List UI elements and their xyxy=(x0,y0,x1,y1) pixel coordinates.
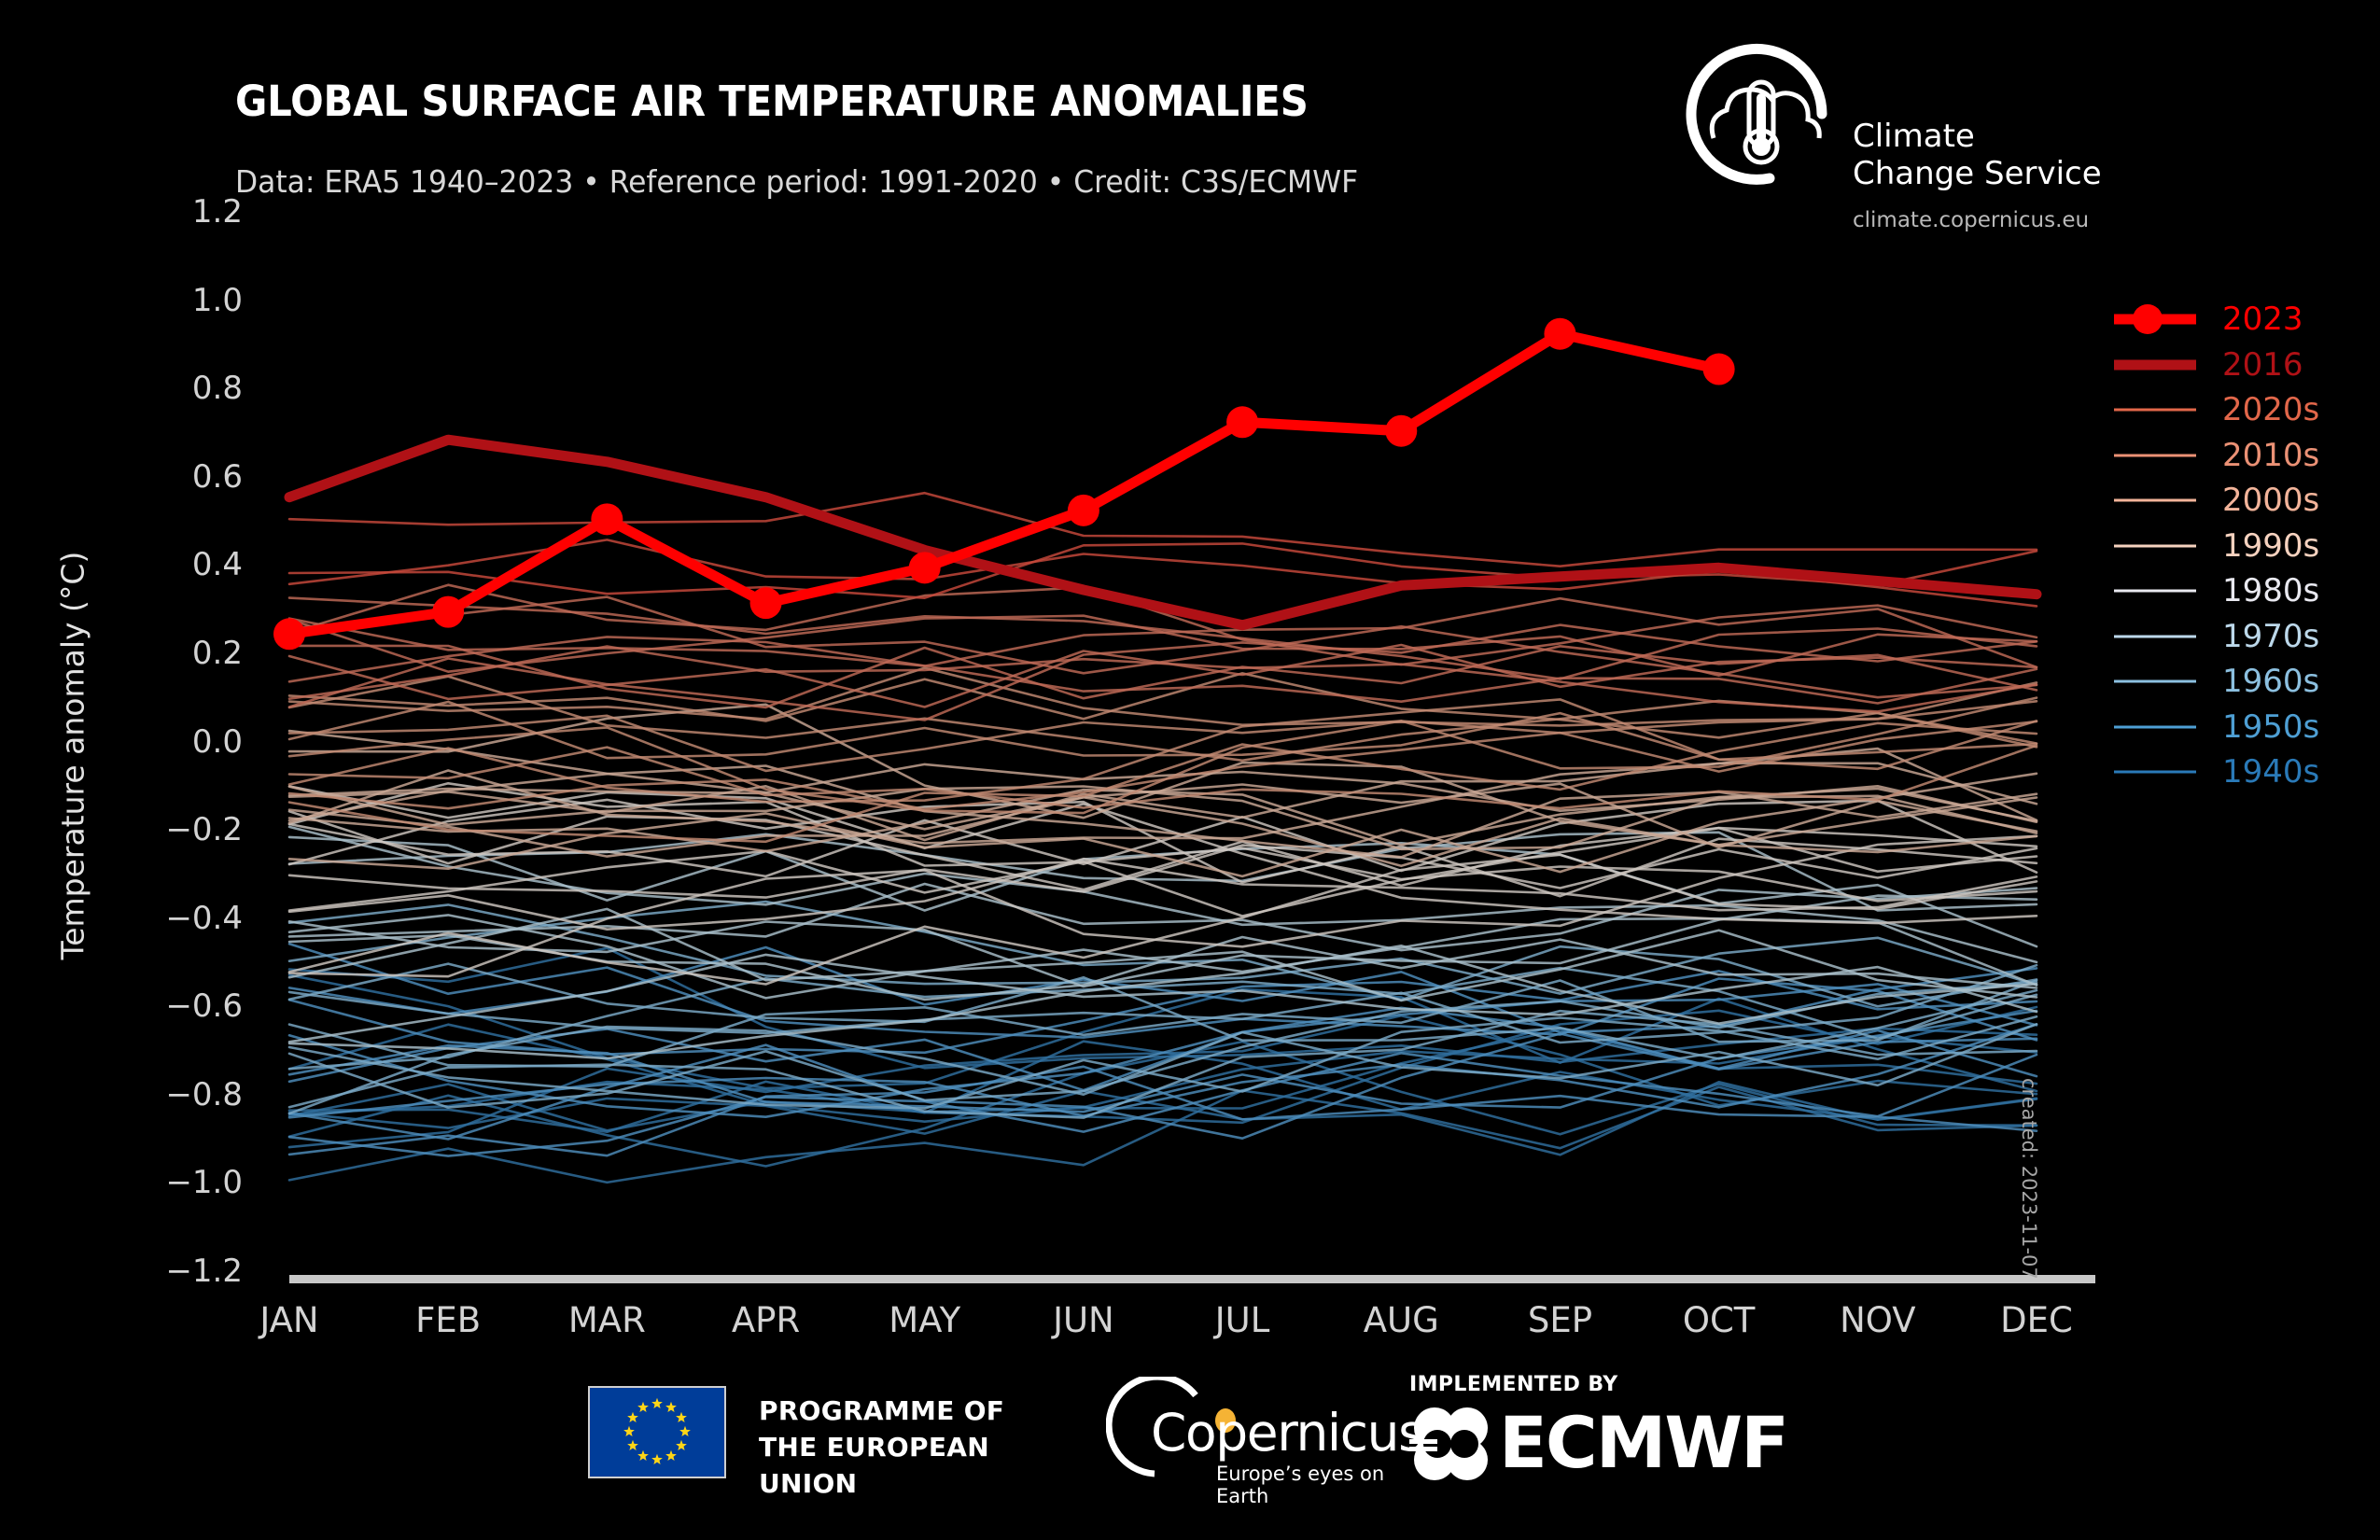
legend-line-swatch xyxy=(2114,680,2196,683)
legend-item-1940s[interactable]: 1940s xyxy=(2114,749,2375,795)
data-point-marker xyxy=(1068,495,1099,526)
eu-star-icon xyxy=(627,1440,638,1450)
c3s-wordmark-line1: Climate xyxy=(1853,118,2102,155)
legend-line-swatch xyxy=(2114,590,2196,593)
y-axis-tick-label: −1.2 xyxy=(93,1253,243,1290)
legend-item-label: 2020s xyxy=(2222,391,2319,428)
legend-item-1970s[interactable]: 1970s xyxy=(2114,614,2375,660)
legend-item-1950s[interactable]: 1950s xyxy=(2114,705,2375,750)
c3s-wordmark: Climate Change Service xyxy=(1853,118,2102,192)
legend-line-swatch xyxy=(2114,409,2196,412)
legend-item-label: 1940s xyxy=(2222,753,2319,791)
chart-header: GLOBAL SURFACE AIR TEMPERATURE ANOMALIES… xyxy=(0,0,2380,215)
eu-star-icon xyxy=(665,1402,677,1412)
legend-item-label: 2016 xyxy=(2222,346,2303,384)
x-axis-line xyxy=(289,1275,2095,1283)
eu-star-icon xyxy=(627,1412,638,1422)
eu-star-icon xyxy=(623,1426,635,1436)
eu-flag-icon xyxy=(588,1386,726,1478)
legend-line-swatch xyxy=(2114,635,2196,637)
y-axis-tick-label: 0.4 xyxy=(93,546,243,583)
ecmwf-mark-icon xyxy=(1409,1405,1495,1483)
copernicus-initial: C xyxy=(1151,1403,1185,1463)
data-point-marker xyxy=(1703,354,1735,385)
legend-item-1980s[interactable]: 1980s xyxy=(2114,568,2375,614)
eu-star-icon xyxy=(637,1402,649,1412)
c3s-logo: Climate Change Service climate.copernicu… xyxy=(1680,37,2221,205)
chart-line xyxy=(289,647,2037,712)
y-axis-tick-label: −0.8 xyxy=(93,1076,243,1113)
data-point-marker xyxy=(432,596,464,628)
legend-item-label: 1960s xyxy=(2222,663,2319,700)
data-point-marker xyxy=(1385,415,1417,447)
eu-star-icon xyxy=(676,1440,687,1450)
legend-item-label: 1970s xyxy=(2222,618,2319,655)
c3s-wordmark-line2: Change Service xyxy=(1853,155,2102,192)
chart-line xyxy=(289,334,1719,635)
legend-item-2020s[interactable]: 2020s xyxy=(2114,387,2375,433)
y-axis-tick-label: 1.2 xyxy=(93,193,243,231)
legend-item-2000s[interactable]: 2000s xyxy=(2114,478,2375,524)
copernicus-word: opernicus xyxy=(1185,1403,1423,1463)
legend-item-1990s[interactable]: 1990s xyxy=(2114,524,2375,569)
y-axis-tick-label: −0.2 xyxy=(93,811,243,848)
y-axis-tick-label: 0.2 xyxy=(93,635,243,672)
data-point-marker xyxy=(1226,406,1258,438)
ecmwf-logo: IMPLEMENTED BY ECMWF xyxy=(1409,1373,1801,1494)
legend-item-label: 2000s xyxy=(2222,482,2319,519)
eu-star-icon xyxy=(651,1454,663,1464)
legend-line-swatch xyxy=(2114,771,2196,774)
chart-line xyxy=(289,811,2037,889)
legend-item-2016[interactable]: 2016 xyxy=(2114,343,2375,388)
data-point-marker xyxy=(909,552,941,583)
legend-item-2023[interactable]: 2023 xyxy=(2114,297,2375,343)
data-point-marker xyxy=(591,503,623,535)
chart-line xyxy=(289,723,2037,842)
legend-item-label: 1990s xyxy=(2222,527,2319,565)
legend-marker-dot xyxy=(2133,304,2163,334)
legend-item-label: 1980s xyxy=(2222,572,2319,609)
eu-star-icon xyxy=(679,1426,691,1436)
ecmwf-wordmark: ECMWF xyxy=(1499,1401,1787,1484)
legend-item-2010s[interactable]: 2010s xyxy=(2114,433,2375,479)
chart-footer: PROGRAMME OF THE EUROPEAN UNION Copernic… xyxy=(0,1367,2380,1540)
copernicus-wordmark: Copernicus xyxy=(1151,1403,1423,1463)
chart-line xyxy=(289,616,2037,676)
legend-line-swatch xyxy=(2114,499,2196,502)
legend-item-label: 2010s xyxy=(2222,437,2319,474)
y-axis-tick-label: 0.8 xyxy=(93,370,243,407)
legend-item-label: 1950s xyxy=(2222,708,2319,746)
eu-star-icon xyxy=(651,1398,663,1408)
page-title: GLOBAL SURFACE AIR TEMPERATURE ANOMALIES xyxy=(235,77,1309,126)
y-axis-title: Temperature anomaly (°C) xyxy=(55,467,91,1045)
legend-line-swatch xyxy=(2114,544,2196,547)
y-axis-tick-label: 0.6 xyxy=(93,458,243,496)
y-axis-tick-label: −0.4 xyxy=(93,900,243,937)
y-axis-tick-label: −1.0 xyxy=(93,1164,243,1201)
y-axis-tick-label: 0.0 xyxy=(93,723,243,761)
copernicus-logo: Copernicus Europe’s eyes on Earth xyxy=(1106,1377,1386,1493)
chart-line xyxy=(289,637,2037,703)
data-point-marker xyxy=(750,587,782,619)
eu-programme-text: PROGRAMME OF THE EUROPEAN UNION xyxy=(759,1393,1073,1502)
eu-programme-line2: THE EUROPEAN UNION xyxy=(759,1429,1073,1502)
legend-line-swatch xyxy=(2114,359,2196,370)
ecmwf-implemented-by-label: IMPLEMENTED BY xyxy=(1409,1373,1618,1396)
eu-programme-logo: PROGRAMME OF THE EUROPEAN UNION xyxy=(588,1386,1073,1489)
y-axis-tick-label: 1.0 xyxy=(93,282,243,319)
created-timestamp: created: 2023-11-07 xyxy=(2018,1078,2040,1311)
data-point-marker xyxy=(1544,318,1575,350)
eu-star-icon xyxy=(637,1450,649,1461)
chart-line xyxy=(289,646,2037,707)
legend-item-1960s[interactable]: 1960s xyxy=(2114,659,2375,705)
eu-star-icon xyxy=(676,1412,687,1422)
chart-subtitle: Data: ERA5 1940–2023 • Reference period:… xyxy=(235,163,1358,200)
climate-cloud-thermometer-icon xyxy=(1680,37,1834,191)
legend-line-swatch xyxy=(2114,454,2196,456)
y-axis-tick-label: −0.6 xyxy=(93,987,243,1025)
legend-line-swatch xyxy=(2114,725,2196,728)
legend: 202320162020s2010s2000s1990s1980s1970s19… xyxy=(2114,297,2375,795)
chart-line xyxy=(289,975,2037,1091)
legend-item-label: 2023 xyxy=(2222,301,2303,338)
data-point-marker xyxy=(273,618,305,650)
eu-programme-line1: PROGRAMME OF xyxy=(759,1393,1073,1429)
eu-star-icon xyxy=(665,1450,677,1461)
copernicus-tagline: Europe’s eyes on Earth xyxy=(1216,1463,1386,1507)
chart-line xyxy=(289,673,2037,747)
